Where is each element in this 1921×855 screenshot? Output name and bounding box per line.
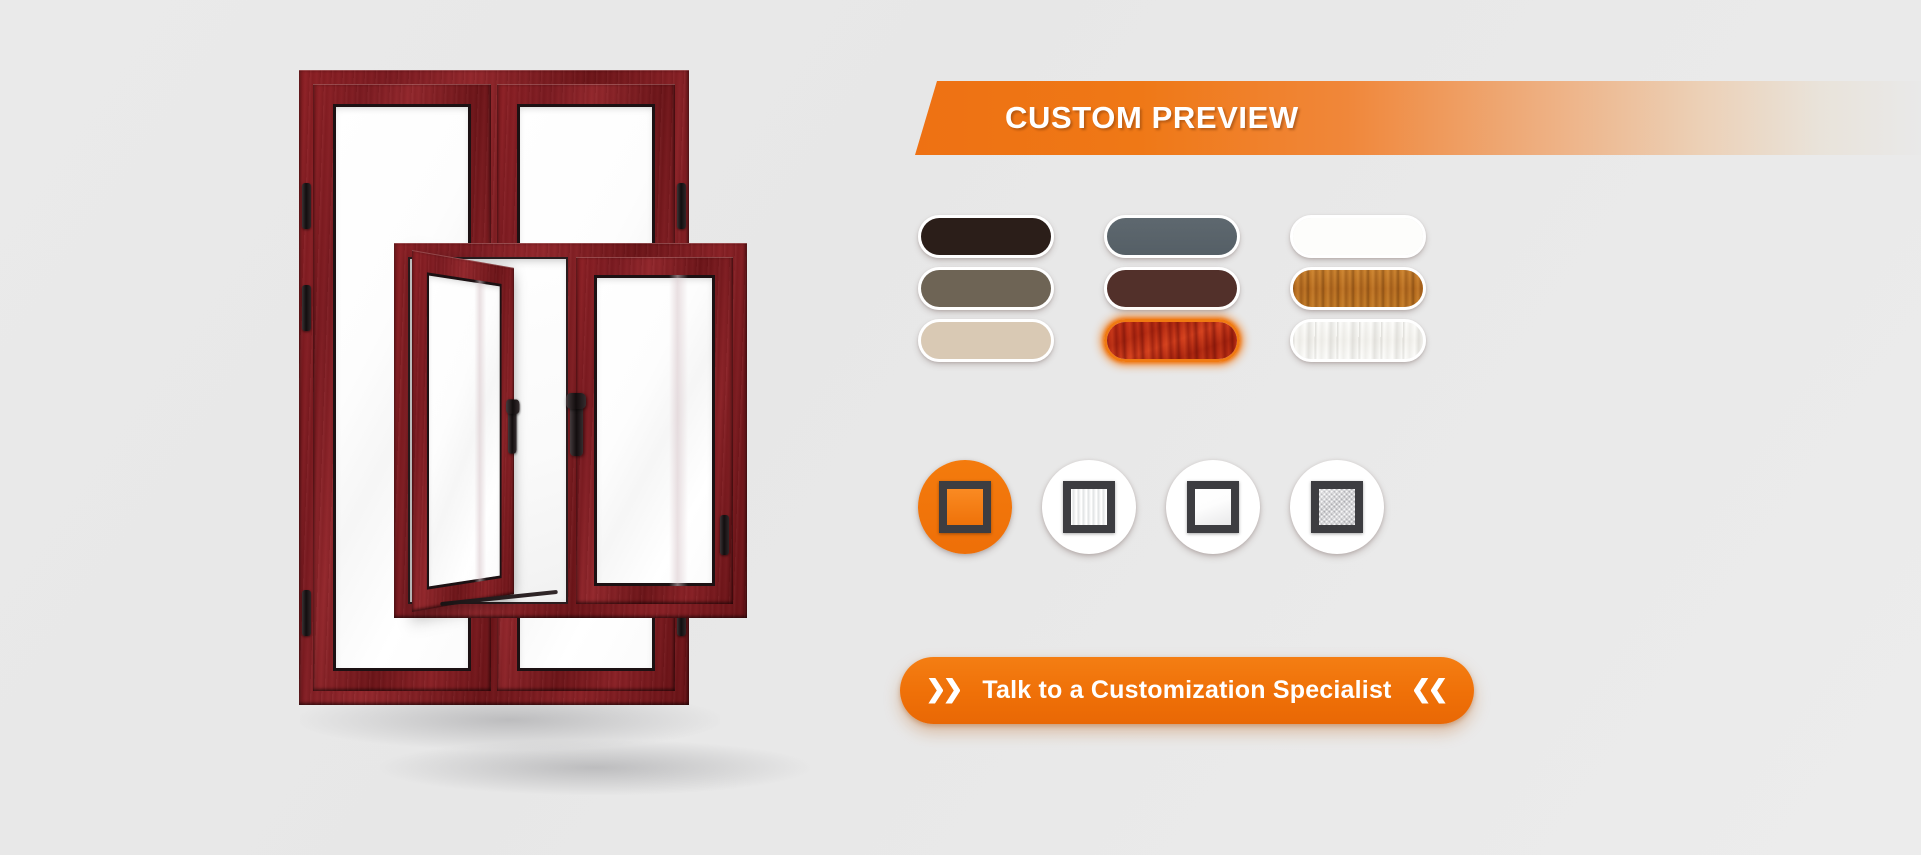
- swatch-cell: [918, 262, 1104, 314]
- cta-label: Talk to a Customization Specialist: [982, 676, 1391, 705]
- front-window-open-sash: [412, 250, 514, 612]
- glass-option-reeded[interactable]: [1042, 460, 1136, 554]
- swatch-fill: [1107, 322, 1237, 359]
- color-swatch-red-wood-grain[interactable]: [1104, 319, 1240, 362]
- double-chevron-right-icon: [928, 678, 960, 704]
- color-swatch-espresso-brown[interactable]: [918, 215, 1054, 258]
- front-window-glass-right: [594, 275, 715, 586]
- swatch-cell: [1104, 210, 1290, 262]
- window-handle-open-sash-knob: [506, 399, 520, 414]
- front-window-open-sash-glass: [427, 272, 502, 589]
- swatch-cell: [1104, 314, 1290, 366]
- swatch-fill: [1293, 270, 1423, 307]
- hinge-icon: [302, 285, 311, 331]
- custom-preview-banner: CUSTOM PREVIEW: [0, 0, 1921, 855]
- swatch-fill: [921, 270, 1051, 307]
- color-swatch-white-birch[interactable]: [1290, 319, 1426, 362]
- glass-pane: [1195, 489, 1231, 525]
- hinge-icon: [302, 590, 311, 636]
- color-swatch-slate-grey[interactable]: [1104, 215, 1240, 258]
- glass-preview-square: [1311, 481, 1363, 533]
- glass-option-clear[interactable]: [1166, 460, 1260, 554]
- glass-preview-square: [1187, 481, 1239, 533]
- hinge-icon: [677, 183, 686, 229]
- color-swatch-cream-beige[interactable]: [918, 319, 1054, 362]
- glass-pane: [947, 489, 983, 525]
- swatch-fill: [1293, 218, 1423, 255]
- window-shadow-front: [380, 740, 810, 795]
- swatch-fill: [921, 218, 1051, 255]
- glass-preview-square: [939, 481, 991, 533]
- double-chevron-left-icon: [1414, 678, 1446, 704]
- swatch-fill: [921, 322, 1051, 359]
- color-swatch-taupe-grey[interactable]: [918, 267, 1054, 310]
- window-handle-right-knob: [566, 393, 586, 409]
- talk-to-specialist-button[interactable]: Talk to a Customization Specialist: [900, 657, 1474, 724]
- frame-color-swatch-grid: [918, 210, 1476, 366]
- page-title: CUSTOM PREVIEW: [1005, 100, 1299, 136]
- hinge-icon: [720, 515, 729, 555]
- custom-preview-banner-ribbon: CUSTOM PREVIEW: [915, 81, 1921, 155]
- swatch-fill: [1107, 270, 1237, 307]
- glass-pane: [1319, 489, 1355, 525]
- glass-preview-square: [1063, 481, 1115, 533]
- color-swatch-dark-maroon[interactable]: [1104, 267, 1240, 310]
- swatch-cell: [1290, 262, 1476, 314]
- swatch-fill: [1107, 218, 1237, 255]
- color-swatch-golden-oak[interactable]: [1290, 267, 1426, 310]
- hinge-icon: [302, 183, 311, 229]
- glass-option-tinted[interactable]: [918, 460, 1012, 554]
- glass-option-frosted[interactable]: [1290, 460, 1384, 554]
- swatch-cell: [918, 210, 1104, 262]
- swatch-fill: [1293, 322, 1423, 359]
- swatch-cell: [918, 314, 1104, 366]
- customization-panel: CUSTOM PREVIEW: [900, 0, 1921, 855]
- swatch-cell: [1290, 314, 1476, 366]
- glass-pane: [1071, 489, 1107, 525]
- swatch-cell: [1104, 262, 1290, 314]
- front-window-sash-right: [576, 257, 733, 604]
- color-swatch-pure-white[interactable]: [1290, 215, 1426, 258]
- glass-type-option-row: [918, 460, 1384, 554]
- swatch-cell: [1290, 210, 1476, 262]
- product-image-casement-window: [0, 0, 930, 855]
